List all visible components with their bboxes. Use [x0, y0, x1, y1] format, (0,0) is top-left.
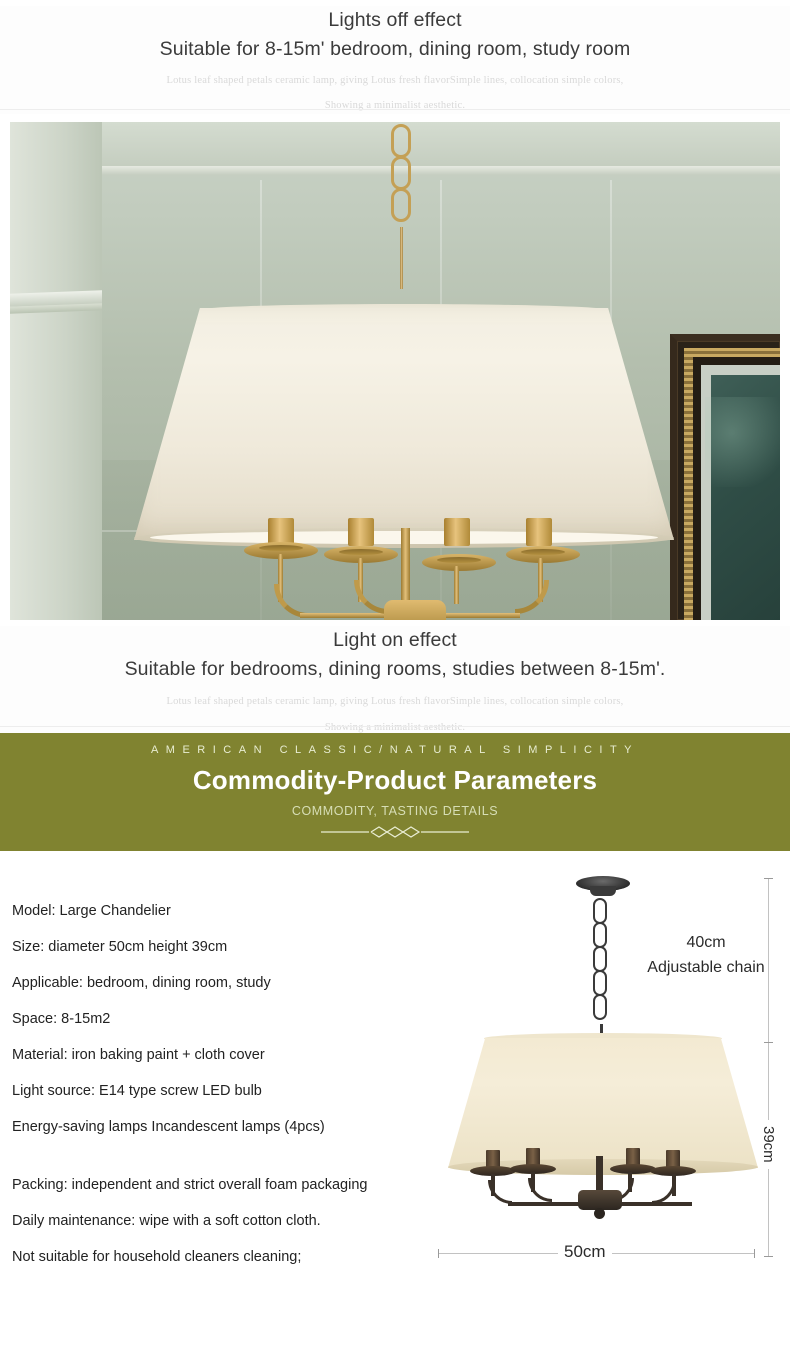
bobeche-plate — [610, 1164, 656, 1174]
chandelier-downrod — [400, 227, 403, 289]
arm-horizontal — [300, 613, 396, 618]
arm-horizontal — [438, 613, 520, 618]
height-dimension-tick — [764, 1042, 773, 1043]
diagram-hub — [578, 1190, 622, 1210]
lights-off-fine-line-1: Lotus leaf shaped petals ceramic lamp, g… — [0, 72, 790, 89]
height-dimension-label: 39cm — [760, 1120, 777, 1169]
light-on-fine-line-1: Lotus leaf shaped petals ceramic lamp, g… — [0, 693, 790, 710]
product-parameters-banner: AMERICAN CLASSIC/NATURAL SIMPLICITY Comm… — [0, 733, 790, 851]
light-on-subheading: Suitable for bedrooms, dining rooms, stu… — [0, 655, 790, 684]
arm-elbow — [488, 1180, 512, 1204]
candle-sleeve — [348, 518, 374, 546]
lights-off-subheading: Suitable for 8-15m' bedroom, dining room… — [0, 35, 790, 64]
width-dimension-endcap — [438, 1249, 439, 1258]
product-detail-page: Lights off effect Suitable for 8-15m' be… — [0, 0, 790, 1355]
chandelier-room-photo — [10, 122, 780, 620]
photo-chandelier — [10, 122, 780, 620]
light-on-heading: Light on effect — [0, 626, 790, 655]
chain-link-icon — [593, 922, 607, 948]
spec-item: Space: 8-15m2 — [12, 1001, 442, 1037]
chain-link-icon — [593, 970, 607, 996]
arm-vertical — [454, 566, 459, 604]
spec-item: Size: diameter 50cm height 39cm — [12, 929, 442, 965]
product-specs-list: Model: Large Chandelier Size: diameter 5… — [12, 893, 442, 1275]
divider-below-caption — [0, 726, 790, 727]
canopy-neck — [590, 886, 616, 896]
spec-item: Not suitable for household cleaners clea… — [12, 1239, 442, 1275]
candle-sleeve — [526, 518, 552, 546]
chandelier-hub — [384, 600, 446, 620]
spec-item: Packing: independent and strict overall … — [12, 1167, 442, 1203]
height-dimension-endcap — [764, 878, 773, 879]
dimension-diagram: 40cm Adjustable chain 50cm 39cm — [430, 868, 782, 1288]
spec-item: Light source: E14 type screw LED bulb — [12, 1073, 442, 1109]
chain-note-label: Adjustable chain — [626, 955, 786, 980]
divider-above-photo — [0, 109, 790, 110]
chain-length-label: 40cm — [626, 930, 786, 955]
chain-link-icon — [593, 898, 607, 924]
arm-elbow — [515, 580, 549, 614]
spec-item: Daily maintenance: wipe with a soft cott… — [12, 1203, 442, 1239]
light-on-caption: Light on effect Suitable for bedrooms, d… — [0, 626, 790, 736]
banner-kicker: AMERICAN CLASSIC/NATURAL SIMPLICITY — [0, 744, 790, 756]
banner-subtitle: COMMODITY, TASTING DETAILS — [0, 804, 790, 818]
banner-title: Commodity-Product Parameters — [0, 765, 790, 796]
spec-spacer — [12, 1145, 442, 1167]
arm-elbow — [652, 1180, 676, 1204]
spec-item: Model: Large Chandelier — [12, 893, 442, 929]
chandelier-center-stem — [401, 528, 410, 606]
bobeche-plate — [422, 554, 496, 571]
lights-off-heading: Lights off effect — [0, 6, 790, 35]
chain-link-icon — [593, 994, 607, 1020]
candle-sleeve — [444, 518, 470, 546]
diagram-finial — [594, 1208, 605, 1219]
bobeche-plate — [506, 546, 580, 563]
chain-link-icon — [391, 156, 411, 190]
chandelier-shade — [134, 308, 674, 540]
chain-link-icon — [593, 946, 607, 972]
arm-horizontal — [616, 1202, 692, 1206]
banner-ornament — [0, 825, 790, 837]
chain-link-icon — [391, 124, 411, 158]
arm-elbow — [528, 1178, 552, 1202]
diagram-center-stem — [596, 1156, 603, 1194]
width-dimension-label: 50cm — [558, 1242, 612, 1262]
chain-link-icon — [391, 188, 411, 222]
chain-callout: 40cm Adjustable chain — [626, 930, 786, 980]
zigzag-divider-icon — [321, 826, 469, 838]
height-dimension-line — [768, 878, 769, 1256]
width-dimension-endcap — [754, 1249, 755, 1258]
diagram-shade — [448, 1038, 758, 1168]
arm-elbow — [354, 580, 388, 614]
height-dimension-endcap — [764, 1256, 773, 1257]
lights-off-fine-line-2: Showing a minimalist aesthetic. — [0, 97, 790, 114]
lights-off-caption: Lights off effect Suitable for 8-15m' be… — [0, 6, 790, 114]
spec-item: Material: iron baking paint + cloth cove… — [12, 1037, 442, 1073]
spec-item: Energy-saving lamps Incandescent lamps (… — [12, 1109, 442, 1145]
arm-horizontal — [508, 1202, 584, 1206]
spec-item: Applicable: bedroom, dining room, study — [12, 965, 442, 1001]
